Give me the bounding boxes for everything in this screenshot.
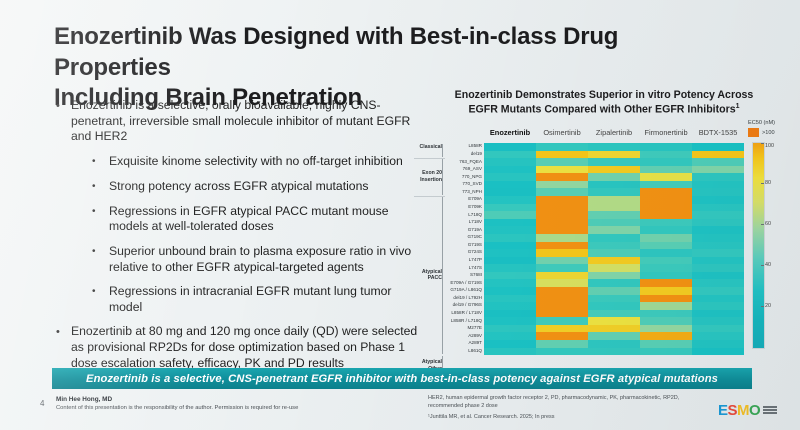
page-number: 4	[40, 399, 44, 408]
heatmap-cell	[536, 279, 588, 287]
bullet-text-1: Enozertinib is a selective, orally bioav…	[71, 98, 428, 145]
heatmap-cell	[640, 242, 692, 250]
heatmap-cell	[484, 295, 536, 303]
heatmap-cell	[692, 302, 744, 310]
heatmap-row-label: A289T	[468, 341, 482, 346]
heatmap-cell	[484, 242, 536, 250]
heatmap-cell	[484, 310, 536, 318]
heatmap-cell	[588, 242, 640, 250]
heatmap-cell	[692, 173, 744, 181]
heatmap-row-label: E709A	[468, 197, 482, 202]
esmo-logo: ESMO	[718, 400, 780, 420]
heatmap-cell	[588, 310, 640, 318]
heatmap-cell	[640, 310, 692, 318]
heatmap-cell	[484, 196, 536, 204]
heatmap-cell	[640, 302, 692, 310]
heatmap-cell	[640, 188, 692, 196]
bullet-item-7: • Enozertinib at 80 mg and 120 mg once d…	[56, 324, 428, 371]
heatmap-cell	[484, 188, 536, 196]
esmo-logo-letter: M	[737, 403, 749, 418]
heatmap-cell	[588, 173, 640, 181]
bullet-item-1: • Enozertinib is a selective, orally bio…	[56, 98, 428, 145]
heatmap-cell	[588, 332, 640, 340]
heatmap-cell	[640, 287, 692, 295]
heatmap-row-label: M277E	[467, 326, 482, 331]
heatmap-cell	[640, 264, 692, 272]
legend-over-label: >100	[762, 130, 775, 136]
colorbar-tick-mark	[761, 265, 764, 266]
heatmap-legend: EC50 (nM) >100 10080604020	[748, 120, 794, 347]
heatmap-cell	[536, 143, 588, 151]
esmo-logo-letter: S	[728, 403, 738, 418]
heatmap-cell	[484, 279, 536, 287]
heatmap-row-label: 773_NPH	[462, 190, 482, 195]
heatmap-cell	[536, 226, 588, 234]
heatmap-row-label: L747P	[469, 258, 482, 263]
heatmap-row-label: 770_SVD	[462, 182, 482, 187]
heatmap-cell	[640, 295, 692, 303]
heatmap-cell	[692, 279, 744, 287]
heatmap-cell	[536, 211, 588, 219]
bullet-item-4: • Regressions in EGFR atypical PACC muta…	[92, 204, 428, 235]
heatmap-cell	[536, 234, 588, 242]
heatmap-cell	[484, 219, 536, 227]
heatmap-row-label: L718V	[469, 220, 482, 225]
bullet-item-3: • Strong potency across EGFR atypical mu…	[92, 179, 428, 195]
heatmap-cell	[536, 196, 588, 204]
heatmap-cell	[484, 348, 536, 356]
heatmap-cell	[640, 325, 692, 333]
heatmap-cell	[484, 226, 536, 234]
heatmap-row-label: G719C	[467, 235, 482, 240]
heatmap-cell	[588, 158, 640, 166]
heatmap-cell	[588, 272, 640, 280]
heatmap-cell	[640, 219, 692, 227]
heatmap-cell	[484, 151, 536, 159]
bullet-item-5: • Superior unbound brain to plasma expos…	[92, 244, 428, 275]
heatmap-cell	[536, 151, 588, 159]
bullet-marker-icon: •	[56, 98, 71, 145]
heatmap-cell	[536, 204, 588, 212]
bullet-text-7: Enozertinib at 80 mg and 120 mg once dai…	[71, 324, 428, 371]
heatmap-cell	[484, 181, 536, 189]
legend-over-entry: >100	[748, 128, 794, 137]
colorbar-tick-mark	[761, 143, 764, 144]
heatmap-cell	[588, 279, 640, 287]
heatmap-column-header: Enozertinib	[484, 128, 536, 137]
heatmap-cell	[692, 325, 744, 333]
heatmap-cell	[536, 188, 588, 196]
heatmap-cell	[588, 226, 640, 234]
heatmap-cell	[640, 257, 692, 265]
chart-title-superscript: 1	[736, 103, 740, 110]
heatmap-row-label: E709A / G719S	[450, 281, 482, 286]
heatmap-cell	[588, 287, 640, 295]
footer-note: Content of this presentation is the resp…	[56, 405, 298, 411]
colorbar-tick-label: 20	[765, 303, 771, 309]
heatmap-cell	[640, 340, 692, 348]
heatmap-cell	[692, 310, 744, 318]
heatmap-cell	[536, 173, 588, 181]
heatmap-cell	[640, 332, 692, 340]
footer-reference: ¹Junttila MR, et al. Cancer Research. 20…	[428, 414, 708, 420]
bullet-marker-icon: •	[92, 244, 109, 275]
heatmap-cell	[640, 249, 692, 257]
heatmap-row-label: G719A	[468, 228, 482, 233]
heatmap-group-separator	[414, 158, 445, 159]
heatmap-group-bracket	[442, 159, 443, 195]
heatmap-cell	[692, 295, 744, 303]
heatmap-column-header: Firmonertinib	[640, 128, 692, 137]
heatmap-cell	[640, 279, 692, 287]
heatmap-cell	[640, 181, 692, 189]
heatmap-cell	[692, 181, 744, 189]
heatmap-cell	[588, 317, 640, 325]
heatmap-cell	[484, 158, 536, 166]
heatmap-cell	[536, 264, 588, 272]
esmo-logo-letter: O	[749, 403, 760, 418]
heatmap-cell	[640, 196, 692, 204]
heatmap-cell	[692, 211, 744, 219]
heatmap-cell	[588, 325, 640, 333]
heatmap-cell	[536, 219, 588, 227]
heatmap-row-label: L861Q	[468, 349, 482, 354]
heatmap-cell	[536, 287, 588, 295]
legend-over-swatch	[748, 128, 759, 137]
heatmap-row-label: del19	[471, 152, 482, 157]
heatmap-cell	[640, 234, 692, 242]
bullet-text-2: Exquisite kinome selectivity with no off…	[109, 154, 403, 170]
heatmap-cell	[536, 348, 588, 356]
chart-title: Enozertinib Demonstrates Superior in vit…	[428, 88, 780, 117]
heatmap-cell	[640, 211, 692, 219]
heatmap-cell	[484, 325, 536, 333]
heatmap-cell	[692, 234, 744, 242]
heatmap-column	[484, 143, 536, 355]
heatmap-cell	[692, 348, 744, 356]
heatmap-cell	[692, 151, 744, 159]
heatmap-column	[640, 143, 692, 355]
heatmap-cell	[692, 272, 744, 280]
heatmap-cell	[484, 249, 536, 257]
heatmap-group-separator	[414, 196, 445, 197]
heatmap-cell	[640, 272, 692, 280]
bullet-text-3: Strong potency across EGFR atypical muta…	[109, 179, 368, 195]
heatmap-cell	[588, 196, 640, 204]
heatmap-column	[692, 143, 744, 355]
heatmap-cell	[484, 332, 536, 340]
heatmap-cell	[484, 264, 536, 272]
bullet-text-5: Superior unbound brain to plasma exposur…	[109, 244, 428, 275]
heatmap-group-label: Exon 20 Insertion	[412, 170, 442, 184]
bullet-marker-icon: •	[92, 204, 109, 235]
heatmap-cell	[536, 325, 588, 333]
heatmap-cell	[692, 317, 744, 325]
heatmap-cell	[588, 348, 640, 356]
colorbar-tick-mark	[761, 306, 764, 307]
heatmap-cell	[692, 143, 744, 151]
heatmap-cell	[588, 249, 640, 257]
heatmap-column-header: Osimertinib	[536, 128, 588, 137]
heatmap-group-label: Atypical PACC	[412, 269, 442, 283]
heatmap-cell	[536, 332, 588, 340]
heatmap-cell	[640, 348, 692, 356]
heatmap-row-label: del19 / G796S	[453, 303, 482, 308]
heatmap-cell	[692, 287, 744, 295]
colorbar-gradient	[752, 142, 765, 349]
heatmap-row-label: 769_ASV	[463, 167, 482, 172]
heatmap-cell	[536, 340, 588, 348]
bullet-item-6: • Regressions in intracranial EGFR mutan…	[92, 284, 428, 315]
heatmap-cell	[484, 257, 536, 265]
chart-title-line2: EGFR Mutants Compared with Other EGFR In…	[428, 102, 780, 117]
heatmap-cell	[588, 143, 640, 151]
heatmap-grid	[484, 143, 744, 355]
colorbar-tick-mark	[761, 224, 764, 225]
heatmap-row-label: L858R	[468, 144, 482, 149]
heatmap-cell	[536, 317, 588, 325]
chart-title-line1: Enozertinib Demonstrates Superior in vit…	[428, 88, 780, 102]
heatmap-row-label: L747S	[469, 266, 482, 271]
heatmap-cell	[588, 234, 640, 242]
heatmap-column-header: BDTX-1535	[692, 128, 744, 137]
heatmap-cell	[692, 188, 744, 196]
colorbar-tick-mark	[761, 183, 764, 184]
heatmap-column-header: Zipalertinib	[588, 128, 640, 137]
colorbar-tick-label: 60	[765, 221, 771, 227]
heatmap-cell	[640, 317, 692, 325]
bullet-marker-icon: •	[92, 154, 109, 170]
heatmap-row-label: L858R / L718V	[451, 311, 482, 316]
heatmap-cell	[692, 158, 744, 166]
bullet-item-2: • Exquisite kinome selectivity with no o…	[92, 154, 428, 170]
heatmap-cell	[484, 272, 536, 280]
heatmap-row-label: G719A / L861Q	[450, 288, 482, 293]
heatmap-cell	[588, 166, 640, 174]
heatmap-cell	[692, 249, 744, 257]
heatmap-cell	[536, 158, 588, 166]
heatmap-cell	[692, 219, 744, 227]
heatmap-cell	[692, 196, 744, 204]
heatmap-group-label: Classical	[412, 144, 442, 151]
heatmap-cell	[484, 211, 536, 219]
heatmap-cell	[484, 287, 536, 295]
heatmap-cell	[484, 173, 536, 181]
heatmap-row-label: E709K	[468, 205, 482, 210]
heatmap-cell	[588, 295, 640, 303]
heatmap-row-label: L718Q	[468, 213, 482, 218]
heatmap-row-label: G719S	[468, 243, 482, 248]
heatmap-cell	[692, 332, 744, 340]
bullet-marker-icon: •	[92, 284, 109, 315]
bullet-marker-icon: •	[92, 179, 109, 195]
heatmap-cell	[536, 257, 588, 265]
heatmap-cell	[640, 151, 692, 159]
heatmap-row-label: 770_NPG	[462, 175, 482, 180]
heatmap-cell	[588, 204, 640, 212]
bullet-list: • Enozertinib is a selective, orally bio…	[56, 98, 428, 380]
summary-banner: Enozertinib is a selective, CNS-penetran…	[52, 368, 752, 389]
slide: Enozertinib Was Designed with Best-in-cl…	[0, 0, 800, 430]
heatmap-group-bracket	[442, 144, 443, 157]
bullet-text-6: Regressions in intracranial EGFR mutant …	[109, 284, 428, 315]
colorbar-tick-label: 100	[765, 143, 774, 149]
heatmap-cell	[536, 249, 588, 257]
heatmap-group-labels: ClassicalExon 20 InsertionAtypical PACCA…	[414, 143, 445, 355]
heatmap-columns	[484, 143, 744, 355]
heatmap-cell	[588, 211, 640, 219]
footer-author: Min Hee Hong, MD	[56, 396, 112, 403]
esmo-logo-bars-icon	[763, 406, 777, 414]
heatmap-cell	[536, 242, 588, 250]
colorbar-tick-label: 80	[765, 180, 771, 186]
heatmap-cell	[536, 272, 588, 280]
heatmap-cell	[692, 204, 744, 212]
heatmap-cell	[484, 340, 536, 348]
heatmap-cell	[692, 242, 744, 250]
heatmap-cell	[588, 340, 640, 348]
heatmap-cell	[536, 181, 588, 189]
heatmap-cell	[484, 302, 536, 310]
heatmap-group-bracket	[442, 197, 443, 354]
heatmap-row-label: del19 / L792H	[453, 296, 482, 301]
heatmap-row-label: G724S	[468, 250, 482, 255]
heatmap-cell	[640, 158, 692, 166]
heatmap-cell	[484, 234, 536, 242]
heatmap-cell	[692, 257, 744, 265]
heatmap-cell	[640, 226, 692, 234]
heatmap-row-label: A289V	[468, 334, 482, 339]
heatmap-cell	[692, 226, 744, 234]
heatmap-cell	[536, 166, 588, 174]
heatmap-cell	[536, 302, 588, 310]
heatmap-cell	[640, 204, 692, 212]
heatmap-cell	[536, 310, 588, 318]
colorbar: 10080604020	[748, 142, 792, 347]
heatmap-cell	[484, 166, 536, 174]
heatmap-cell	[588, 219, 640, 227]
heatmap-cell	[588, 257, 640, 265]
heatmap-cell	[692, 166, 744, 174]
heatmap-cell	[692, 340, 744, 348]
heatmap-column	[536, 143, 588, 355]
heatmap-cell	[588, 302, 640, 310]
heatmap-cell	[484, 143, 536, 151]
heatmap-cell	[588, 181, 640, 189]
heatmap-column-headers: EnozertinibOsimertinibZipalertinibFirmon…	[484, 128, 744, 140]
heatmap-cell	[640, 143, 692, 151]
colorbar-tick-label: 40	[765, 262, 771, 268]
heatmap-column	[588, 143, 640, 355]
bullet-marker-icon: •	[56, 324, 71, 371]
heatmap-cell	[588, 151, 640, 159]
heatmap-cell	[536, 295, 588, 303]
heatmap-cell	[588, 188, 640, 196]
page-title-line1: Enozertinib Was Designed with Best-in-cl…	[54, 22, 734, 83]
bullet-text-4: Regressions in EGFR atypical PACC mutant…	[109, 204, 428, 235]
sub-bullet-list: • Exquisite kinome selectivity with no o…	[92, 154, 428, 316]
heatmap-row-label: L858R / L718Q	[451, 319, 482, 324]
heatmap-cell	[484, 317, 536, 325]
heatmap-cell	[640, 166, 692, 174]
heatmap-cell	[692, 264, 744, 272]
heatmap-row-labels: L858Rdel19763_FQEA769_ASV770_NPG770_SVD7…	[445, 143, 482, 355]
heatmap-cell	[588, 264, 640, 272]
heatmap-panel: Enozertinib Demonstrates Superior in vit…	[414, 88, 792, 360]
heatmap-row-label: S768I	[470, 273, 482, 278]
esmo-logo-letter: E	[718, 403, 728, 418]
legend-title: EC50 (nM)	[748, 120, 794, 126]
heatmap-cell	[484, 204, 536, 212]
heatmap-row-label: 763_FQEA	[459, 160, 482, 165]
footer-abbreviations: HER2, human epidermal growth factor rece…	[428, 394, 708, 411]
heatmap-cell	[640, 173, 692, 181]
